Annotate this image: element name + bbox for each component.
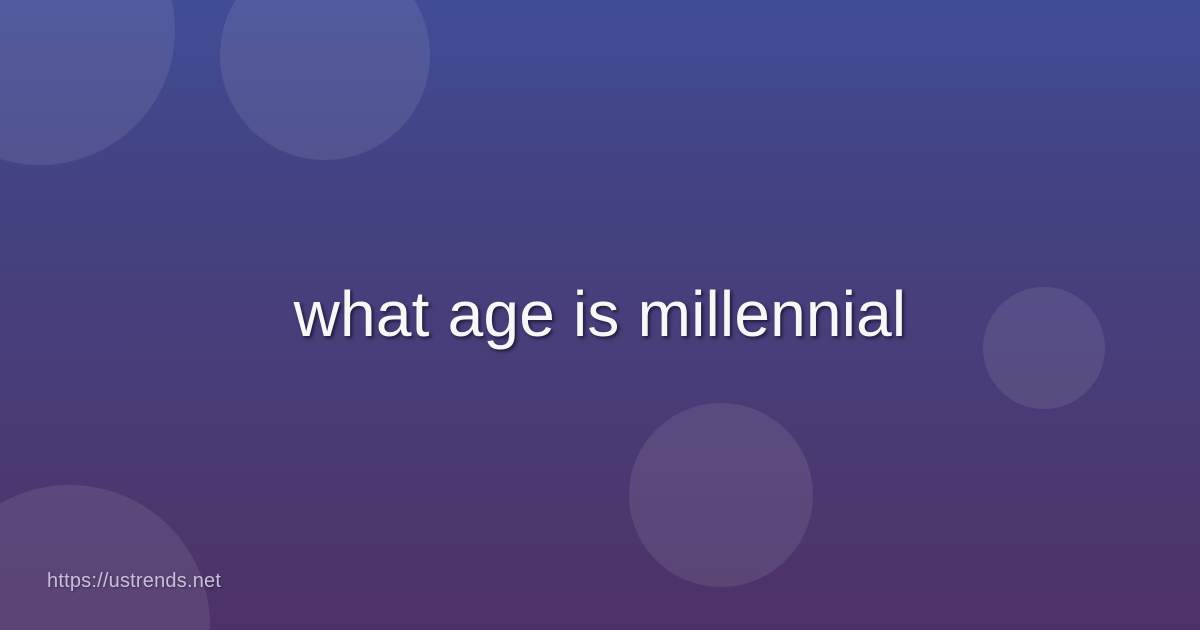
page-title: what age is millennial bbox=[294, 277, 907, 353]
title-container: what age is millennial bbox=[0, 0, 1200, 630]
site-url-label: https://ustrends.net bbox=[47, 570, 221, 593]
social-share-card: what age is millennial https://ustrends.… bbox=[0, 0, 1200, 630]
